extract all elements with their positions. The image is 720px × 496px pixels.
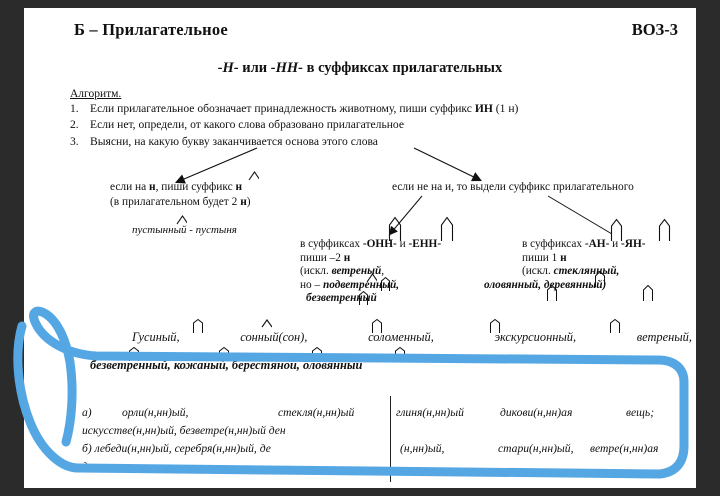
branch-left-line1-n2: н (235, 181, 242, 193)
suffix-bracket-icon (594, 270, 606, 288)
suffix-caret-icon (261, 319, 272, 330)
branch-left-text: если на н, пиши суффикс н (в прилагатель… (110, 180, 251, 209)
subtitle-n-single: -Н- (218, 60, 239, 76)
suffix-mid-title-pre: в суффиксах (300, 238, 363, 250)
suffix-right-exception-2: оловянный, деревянный) (484, 279, 696, 293)
suffix-mid-rule-n: н (344, 252, 351, 264)
suffix-bracket-icon (440, 216, 454, 242)
slide-sheet: Б – Прилагательное ВОЗ-3 -Н- или -НН- в … (24, 8, 696, 488)
branch-left-line1-a: если на (110, 181, 149, 193)
connector-to-mid-box-icon (304, 194, 504, 240)
suffix-mid-excl-pre: (искл. (300, 265, 332, 277)
algorithm-list: 1. Если прилагательное обозначает принад… (70, 101, 670, 150)
suffix-bracket-icon (371, 318, 383, 334)
exercise-divider (390, 396, 391, 482)
exercise-a-item-4: дикови(н,нн)ая (500, 406, 572, 419)
exercise-b-label-item: б) лебеди(н,нн)ый, серебря(н,нн)ый, де (82, 442, 271, 455)
suffix-bracket-icon (358, 290, 369, 306)
examples-row-2: безветренный, кожаный, берестяной, оловя… (90, 358, 510, 373)
algorithm-item-1: 1. Если прилагательное обозначает принад… (70, 101, 670, 116)
suffix-bracket-icon (380, 276, 391, 292)
suffix-right-title-yan: -ЯН- (621, 238, 645, 250)
subtitle-tail: в суффиксах прилагательных (303, 60, 502, 76)
branch-left-line1-b: , пиши суффикс (156, 181, 236, 193)
exercise-box: а) орли(н,нн)ый, стекля(н,нн)ый глиня(н,… (70, 390, 678, 484)
algorithm-item-1-text-before: Если прилагательное обозначает принадлеж… (90, 102, 475, 115)
suffix-bracket-icon (311, 346, 323, 362)
algorithm-item-1-text: Если прилагательное обозначает принадлеж… (90, 101, 518, 116)
exercise-b-continuation: девушка. (82, 460, 126, 473)
suffix-mid-exception-1: (искл. ветреный, (300, 265, 490, 279)
algorithm-item-1-bold: ИН (475, 102, 493, 115)
branch-left-line2-a: (в прилагательном будет 2 (110, 196, 240, 208)
header-title-left: Б – Прилагательное (74, 20, 228, 40)
algorithm-item-1-number: 1. (70, 101, 90, 116)
suffix-right-rule-n: н (560, 252, 567, 264)
suffix-bracket-icon (489, 318, 501, 334)
suffix-bracket-icon (192, 318, 204, 334)
branch-left-line2-b: ) (247, 196, 251, 208)
suffix-bracket-icon (642, 284, 654, 302)
example-word-2: сонный(сон), (240, 330, 307, 345)
algorithm-item-2: 2. Если нет, определи, от какого слова о… (70, 117, 670, 132)
example-word-1: Гусиный, (132, 330, 180, 345)
algorithm-item-2-text: Если нет, определи, от какого слова обра… (90, 117, 404, 132)
suffix-bracket-icon (546, 284, 558, 302)
exercise-a-label: а) (82, 406, 92, 419)
suffix-mid-excl2-pre: но – (300, 279, 323, 291)
suffix-bracket-icon (610, 218, 623, 242)
suffix-right-exception-1: (искл. стеклянный, (522, 265, 696, 279)
exercise-b-item-1: (н,нн)ый, (400, 442, 444, 455)
suffix-bracket-icon (388, 216, 402, 242)
exercise-a-continuation: искусстве(н,нн)ый, безветре(н,нн)ый ден (82, 424, 286, 437)
suffix-mid-exception-2: но – подветренный, (300, 279, 490, 293)
subtitle-n-double: -НН- (271, 60, 303, 76)
exercise-a-item-1: орли(н,нн)ый, (122, 406, 188, 419)
suffix-bracket-icon (218, 346, 230, 362)
suffix-mid-exception-3: безветренный (300, 292, 490, 306)
branch-left-line2: (в прилагательном будет 2 н) (110, 195, 251, 210)
suffix-caret-icon (176, 215, 187, 226)
suffix-mid-title-enn: -ЕНН- (408, 238, 441, 250)
exercise-a-item-2: стекля(н,нн)ый (278, 406, 354, 419)
slide-subtitle: -Н- или -НН- в суффиксах прилагательных (24, 60, 696, 77)
suffix-rule-onn-enn: в суффиксах -ОНН- и -ЕНН- пиши –2 н (иск… (300, 238, 490, 306)
examples-row-1: Гусиный, сонный(сон), соломенный, экскур… (132, 330, 692, 345)
suffix-right-title-pre: в суффиксах (522, 238, 585, 250)
branch-right-text: если не на и, то выдели суффикс прилагат… (392, 180, 634, 195)
branch-left-line1-n: н (149, 181, 156, 193)
suffix-right-excl-pre: (искл. (522, 265, 554, 277)
suffix-bracket-icon (394, 346, 406, 362)
suffix-caret-icon (366, 273, 377, 284)
slide-page: Б – Прилагательное ВОЗ-3 -Н- или -НН- в … (0, 0, 720, 496)
branch-left-line2-n: н (240, 196, 247, 208)
suffix-mid-rule: пиши –2 н (300, 252, 490, 266)
suffix-right-excl-word1: стеклянный, (554, 265, 620, 277)
algorithm-item-2-number: 2. (70, 117, 90, 132)
exercise-a-item-5: вещь; (626, 406, 654, 419)
suffix-mid-rule-pre: пиши –2 (300, 252, 344, 264)
suffix-right-rule: пиши 1 н (522, 252, 696, 266)
example-word-5: ветреный, (637, 330, 692, 345)
exercise-b-item-2: стари(н,нн)ый, (498, 442, 573, 455)
suffix-right-title-an: -АН- (585, 238, 609, 250)
exercise-a-item-3: глиня(н,нн)ый (396, 406, 464, 419)
header-code-right: ВОЗ-3 (632, 20, 678, 40)
suffix-bracket-icon (128, 346, 140, 362)
suffix-bracket-icon (658, 218, 671, 242)
algorithm-item-1-text-after: (1 н) (493, 102, 519, 115)
exercise-b-item-3: ветре(н,нн)ая (590, 442, 658, 455)
suffix-bracket-icon (609, 318, 621, 334)
branch-left-line1: если на н, пиши суффикс н (110, 180, 251, 195)
algorithm-heading: Алгоритм. (70, 88, 121, 100)
example-word-4: экскурсионный, (495, 330, 576, 345)
subtitle-or: или (239, 60, 271, 76)
suffix-right-rule-pre: пиши 1 (522, 252, 560, 264)
suffix-caret-icon (248, 171, 259, 182)
